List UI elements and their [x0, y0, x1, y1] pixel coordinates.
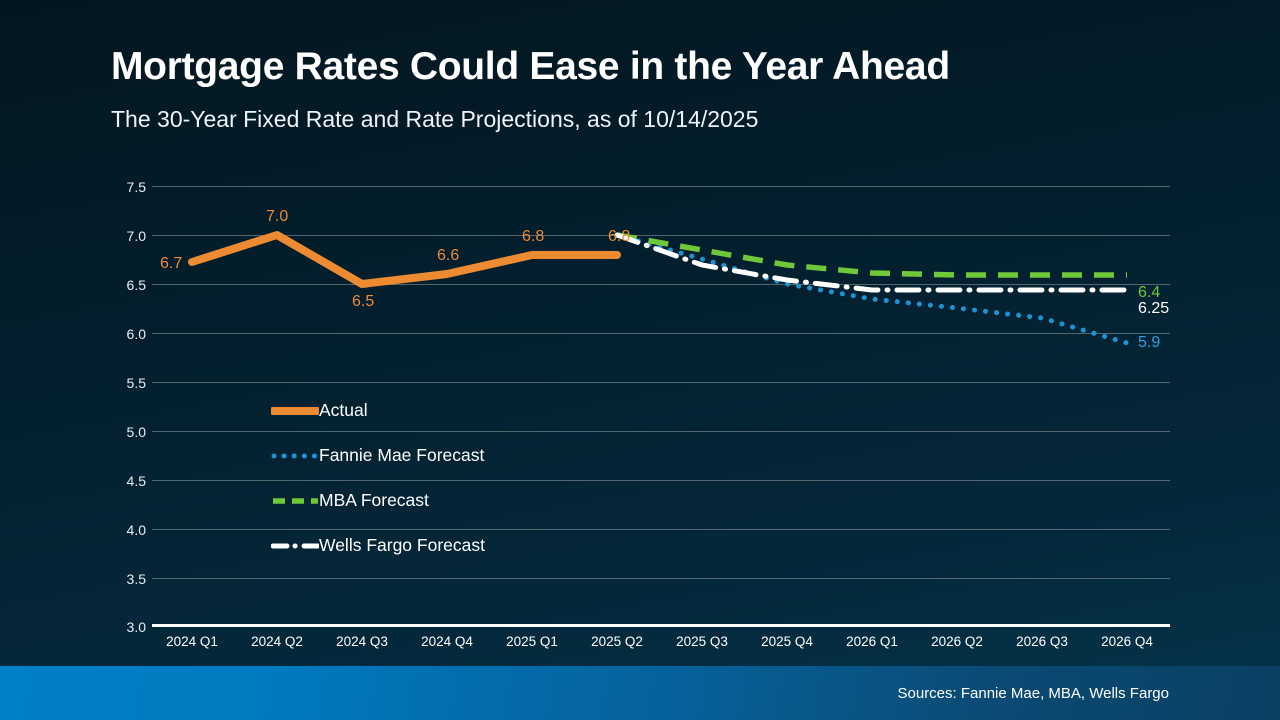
legend-swatch-actual-solid-line-icon	[271, 404, 319, 418]
data-label-actual: 6.5	[352, 294, 374, 310]
data-label-actual: 6.6	[437, 248, 459, 264]
data-label-actual: 6.7	[160, 256, 182, 272]
series-path-actual	[192, 235, 617, 284]
legend-label-mba: MBA Forecast	[319, 490, 429, 511]
series-path-wells-fargo	[617, 235, 1127, 290]
legend-item-fannie-mae: Fannie Mae Forecast	[271, 433, 485, 478]
data-label-actual: 6.8	[608, 229, 630, 245]
legend-swatch-fannie-mae-dotted-line-icon	[271, 449, 319, 463]
data-label-mba: 6.4	[1138, 285, 1160, 301]
series-paths	[0, 0, 1280, 660]
chart-legend: Actual Fannie Mae Forecast MBA Forecast	[271, 388, 485, 568]
slide-canvas: Mortgage Rates Could Ease in the Year Ah…	[0, 0, 1280, 720]
line-chart: 7.5 7.0 6.5 6.0 5.5 5.0 4.5 4.0 3.5 3.0	[0, 0, 1280, 660]
legend-swatch-wells-fargo-dash-dot-line-icon	[271, 539, 319, 553]
legend-item-actual: Actual	[271, 388, 485, 433]
legend-swatch-mba-dashed-line-icon	[271, 494, 319, 508]
legend-item-wells-fargo: Wells Fargo Forecast	[271, 523, 485, 568]
legend-label-fannie-mae: Fannie Mae Forecast	[319, 445, 484, 466]
data-label-actual: 7.0	[266, 209, 288, 225]
data-label-fannie-mae: 5.9	[1138, 335, 1160, 351]
legend-item-mba: MBA Forecast	[271, 478, 485, 523]
data-label-actual: 6.8	[522, 229, 544, 245]
data-label-wells-fargo: 6.25	[1138, 301, 1169, 317]
x-axis-label: 2026 Q4	[1072, 634, 1182, 649]
legend-label-wells-fargo: Wells Fargo Forecast	[319, 535, 485, 556]
legend-label-actual: Actual	[319, 400, 368, 421]
sources-text: Sources: Fannie Mae, MBA, Wells Fargo	[898, 685, 1170, 702]
